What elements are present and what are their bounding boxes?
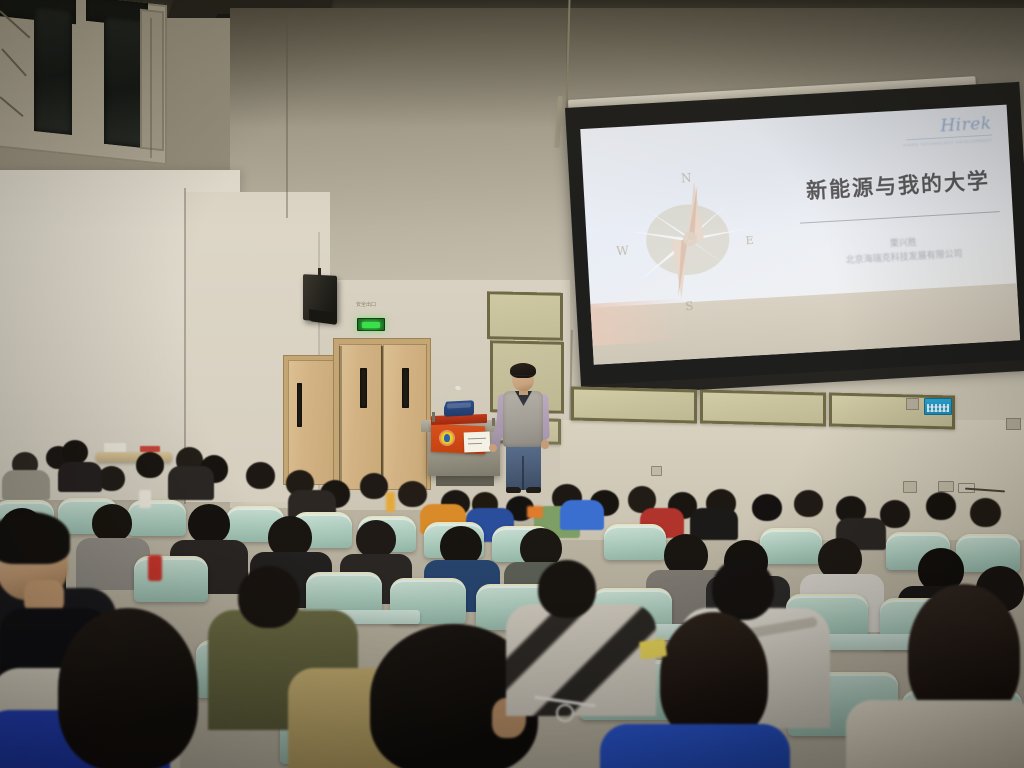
presenter-hand-left: [489, 444, 497, 452]
wall-outlet-4: [651, 466, 662, 476]
window-pane-a: [34, 6, 72, 135]
wall-right-lower: [560, 420, 1024, 540]
audience-head-large: [58, 608, 198, 768]
door-lite-left: [297, 383, 302, 427]
podium-post-left: [432, 412, 435, 422]
slide-title-rule: [800, 211, 1000, 224]
audience-head: [246, 462, 275, 489]
window-edge: [150, 18, 152, 158]
seat: [134, 556, 208, 602]
presenter-shoe-right: [526, 487, 541, 493]
exit-sign-chinese-label: 安全出口: [356, 302, 378, 315]
wall-plaque-small-2: [1006, 418, 1021, 430]
audience-body: [2, 470, 50, 500]
audience-head-ponytail: [660, 612, 768, 740]
wall-panel-strip-1: [571, 386, 697, 423]
wall-plaque-small: [906, 398, 919, 410]
seat: [128, 500, 186, 536]
audience-head: [92, 504, 132, 542]
audience-head: [712, 558, 774, 620]
lecture-hall-photo: Hirek HIREK TECHNOLOGY DEVELOPMENT: [0, 0, 1024, 768]
earphone-loop: [556, 704, 574, 722]
door-lite-double-left: [360, 368, 367, 408]
bottle: [386, 492, 395, 512]
orange-object: [527, 506, 543, 518]
audience-head: [794, 490, 823, 517]
podium-laptop: [444, 400, 474, 417]
wall-outlet-1: [903, 481, 917, 493]
door-single-left[interactable]: [288, 360, 334, 485]
audience-body: [58, 462, 102, 492]
audience-head: [752, 494, 782, 521]
podium-emblem-icon: [440, 431, 454, 445]
audience-hair: [0, 512, 70, 564]
podium-paper-sign: [464, 432, 491, 453]
drink-can: [148, 555, 162, 581]
compass-rose-icon: N E S W: [604, 154, 773, 323]
svg-text:S: S: [685, 299, 694, 313]
slide-presenter-block: 栗兴胜 北京海瑞克科技发展有限公司: [809, 233, 998, 272]
seat: [956, 534, 1020, 572]
presenter-leg-seam: [522, 456, 524, 490]
audience-body: [168, 466, 214, 500]
audience-head: [356, 520, 396, 558]
window-mullion: [140, 9, 164, 152]
podium-post-right: [492, 418, 495, 426]
presenter-glasses-icon: [513, 375, 533, 380]
projection-screen: Hirek HIREK TECHNOLOGY DEVELOPMENT: [565, 82, 1024, 390]
door-lite-double-right: [402, 368, 409, 408]
audience-body-camo: [506, 604, 656, 716]
presenter-hand-right: [541, 440, 549, 449]
seat: [604, 524, 666, 560]
door-gap-shadow: [381, 346, 383, 488]
exit-sign-glow: [362, 322, 380, 328]
audience-body-cream: [846, 700, 1024, 768]
audience-head: [98, 466, 125, 491]
wall-notice-grid: [927, 404, 949, 412]
seat: [760, 528, 822, 564]
wall-panel-upper: [487, 291, 563, 341]
yellow-paper: [639, 638, 667, 659]
presenter-shoe-left: [506, 487, 521, 493]
svg-text:E: E: [746, 234, 755, 247]
wall-panel-strip-2: [700, 389, 826, 426]
water-bottle: [139, 490, 151, 508]
audience-head: [926, 492, 956, 520]
audience-head: [970, 498, 1001, 527]
wall-outlet-2: [938, 481, 954, 492]
audience-head: [360, 473, 388, 499]
slide-title: 新能源与我的大学: [805, 164, 994, 205]
door-double-leaf-right[interactable]: [383, 344, 427, 490]
svg-text:N: N: [681, 171, 692, 186]
audience-head: [62, 440, 88, 464]
audience-head: [238, 566, 300, 628]
wall-seam: [286, 18, 288, 218]
book-stack: [104, 443, 126, 452]
presentation-slide: Hirek HIREK TECHNOLOGY DEVELOPMENT: [580, 105, 1020, 365]
audience-body: [690, 508, 738, 540]
audience-body-blue: [560, 500, 604, 530]
svg-text:W: W: [616, 244, 630, 259]
door-edge-shadow: [339, 346, 342, 486]
wall-notice-sign: [924, 398, 952, 415]
exit-sign: [357, 318, 385, 331]
slide-logo: Hirek HIREK TECHNOLOGY DEVELOPMENT: [902, 113, 993, 147]
door-double-leaf-left[interactable]: [339, 344, 382, 490]
audience-body-blue: [600, 724, 790, 768]
audience-head: [398, 481, 427, 507]
audience-head: [188, 504, 230, 544]
audience-head: [538, 560, 596, 618]
audience-head: [136, 452, 164, 478]
